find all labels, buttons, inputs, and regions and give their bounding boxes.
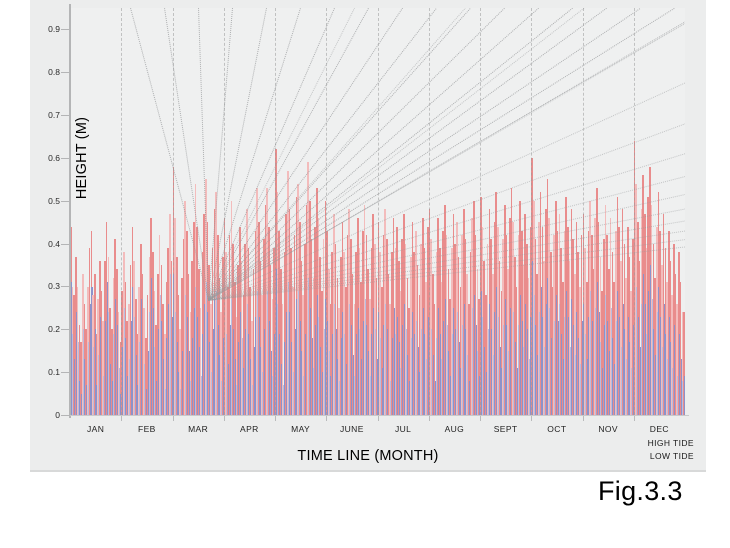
x-axis-tick-label: APR xyxy=(240,424,259,434)
x-axis-tick xyxy=(121,416,122,421)
figure-panel: 00.10.20.30.40.50.60.70.80.9 HEIGHT (M) … xyxy=(30,0,706,472)
x-axis-tick xyxy=(480,416,481,421)
x-axis-tick xyxy=(429,416,430,421)
y-axis-tick-label: 0.2 xyxy=(34,325,60,334)
y-axis-tick-label: 0 xyxy=(34,411,60,420)
x-axis-tick xyxy=(275,416,276,421)
y-axis-tick-label: 0.7 xyxy=(34,111,60,120)
x-axis-tick-label: DEC xyxy=(650,424,669,434)
bar-low-tide xyxy=(684,376,685,415)
x-axis-tick-label: JUNE xyxy=(340,424,364,434)
x-axis-tick xyxy=(173,416,174,421)
x-axis-tick-label: AUG xyxy=(445,424,465,434)
y-axis-tick xyxy=(61,329,70,330)
month-separator-line xyxy=(480,8,481,415)
chart-plot-area xyxy=(70,8,685,415)
month-separator-line xyxy=(429,8,430,415)
y-axis-tick xyxy=(61,115,70,116)
y-axis-tick-label: 0.3 xyxy=(34,282,60,291)
y-axis-tick-label: 0.8 xyxy=(34,68,60,77)
x-axis-tick xyxy=(378,416,379,421)
x-axis-tick xyxy=(224,416,225,421)
y-axis-tick xyxy=(61,244,70,245)
x-axis-tick-label: SEPT xyxy=(494,424,518,434)
y-axis-tick xyxy=(61,29,70,30)
x-axis-tick-label: JAN xyxy=(87,424,104,434)
y-axis-tick xyxy=(61,415,70,416)
month-separator-line xyxy=(634,8,635,415)
x-axis-tick-label: NOV xyxy=(598,424,618,434)
x-axis-tick-label: MAY xyxy=(291,424,310,434)
y-axis-tick xyxy=(61,201,70,202)
legend-item-low-tide: LOW TIDE xyxy=(648,450,694,463)
y-axis-tick xyxy=(61,286,70,287)
y-axis-tick-label: 0.4 xyxy=(34,240,60,249)
x-axis-tick xyxy=(531,416,532,421)
y-axis-tick-label: 0.6 xyxy=(34,154,60,163)
x-axis-line xyxy=(69,415,689,416)
y-axis-tick xyxy=(61,372,70,373)
y-axis-tick-labels: 00.10.20.30.40.50.60.70.80.9 xyxy=(30,0,60,430)
x-axis-title: TIME LINE (MONTH) xyxy=(30,448,706,464)
month-separator-line xyxy=(531,8,532,415)
month-separator-line xyxy=(121,8,122,415)
month-separator-line xyxy=(378,8,379,415)
x-axis-tick-label: OCT xyxy=(547,424,566,434)
x-axis-tick xyxy=(634,416,635,421)
chart-legend: HIGH TIDE LOW TIDE xyxy=(648,437,694,462)
y-axis-tick xyxy=(61,158,70,159)
x-axis-tick-label: JUL xyxy=(395,424,411,434)
figure-caption: Fig.3.3 xyxy=(598,476,718,507)
x-axis-tick-label: FEB xyxy=(138,424,156,434)
y-axis-line xyxy=(69,4,71,418)
x-axis-tick xyxy=(583,416,584,421)
x-axis-tick-label: MAR xyxy=(188,424,208,434)
y-axis-tick-label: 0.9 xyxy=(34,25,60,34)
legend-item-high-tide: HIGH TIDE xyxy=(648,437,694,450)
y-axis-title: HEIGHT (M) xyxy=(74,88,90,228)
y-axis-tick-label: 0.5 xyxy=(34,197,60,206)
y-axis-tick-label: 0.1 xyxy=(34,368,60,377)
month-separator-line xyxy=(583,8,584,415)
x-axis-tick xyxy=(326,416,327,421)
y-axis-tick xyxy=(61,72,70,73)
